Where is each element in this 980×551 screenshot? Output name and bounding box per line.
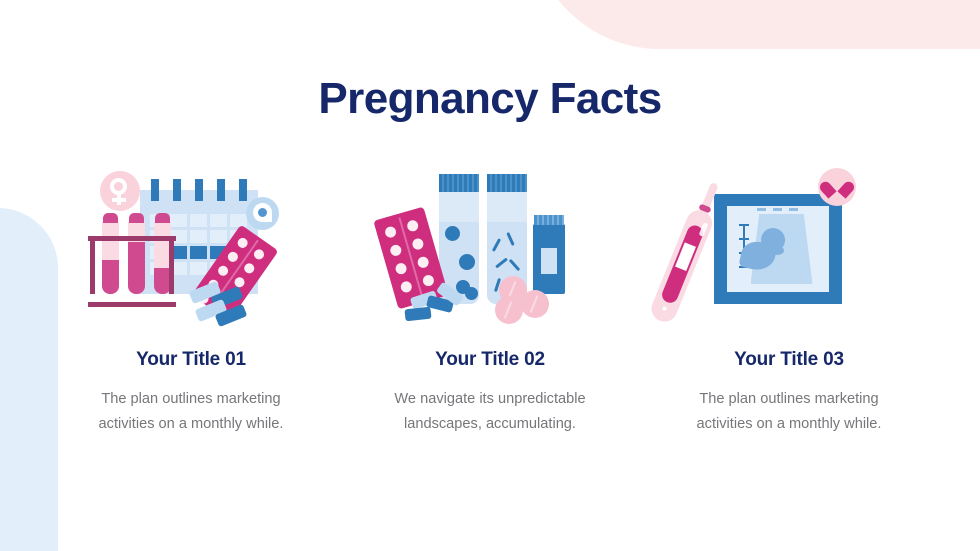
capsule-pill-icon xyxy=(404,307,431,322)
feature-column-1: Your Title 01 The plan outlines marketin… xyxy=(60,168,322,437)
column-title: Your Title 02 xyxy=(435,349,545,371)
decorative-shape-top-right xyxy=(530,0,980,49)
pill-blister-pack-icon xyxy=(373,207,448,310)
location-pin-icon xyxy=(246,197,279,230)
column-title: Your Title 01 xyxy=(136,349,246,371)
page-title: Pregnancy Facts xyxy=(0,74,980,124)
column-body-text: The plan outlines marketing activities o… xyxy=(81,387,301,437)
tablet-pill-icon xyxy=(521,290,549,318)
heart-icon xyxy=(818,168,856,206)
medicine-bottle-icon xyxy=(533,224,565,294)
column-body-text: We navigate its unpredictable landscapes… xyxy=(380,387,600,437)
female-symbol-icon xyxy=(100,171,140,211)
tablet-pill-icon xyxy=(495,296,523,324)
slide-canvas: Pregnancy Facts xyxy=(0,0,980,551)
column-body-text: The plan outlines marketing activities o… xyxy=(679,387,899,437)
column-title: Your Title 03 xyxy=(734,349,844,371)
test-tubes-calendar-pills-illustration xyxy=(84,168,299,333)
test-tube-rack-icon xyxy=(88,214,180,309)
feature-column-3: Your Title 03 The plan outlines marketin… xyxy=(658,168,920,437)
ultrasound-monitor-icon xyxy=(714,194,842,304)
decorative-shape-left xyxy=(0,208,58,551)
feature-column-2: Your Title 02 We navigate its unpredicta… xyxy=(359,168,621,437)
pregnancy-test-ultrasound-illustration xyxy=(682,168,897,333)
feature-columns: Your Title 01 The plan outlines marketin… xyxy=(60,168,920,437)
sample-vials-pills-illustration xyxy=(383,168,598,333)
